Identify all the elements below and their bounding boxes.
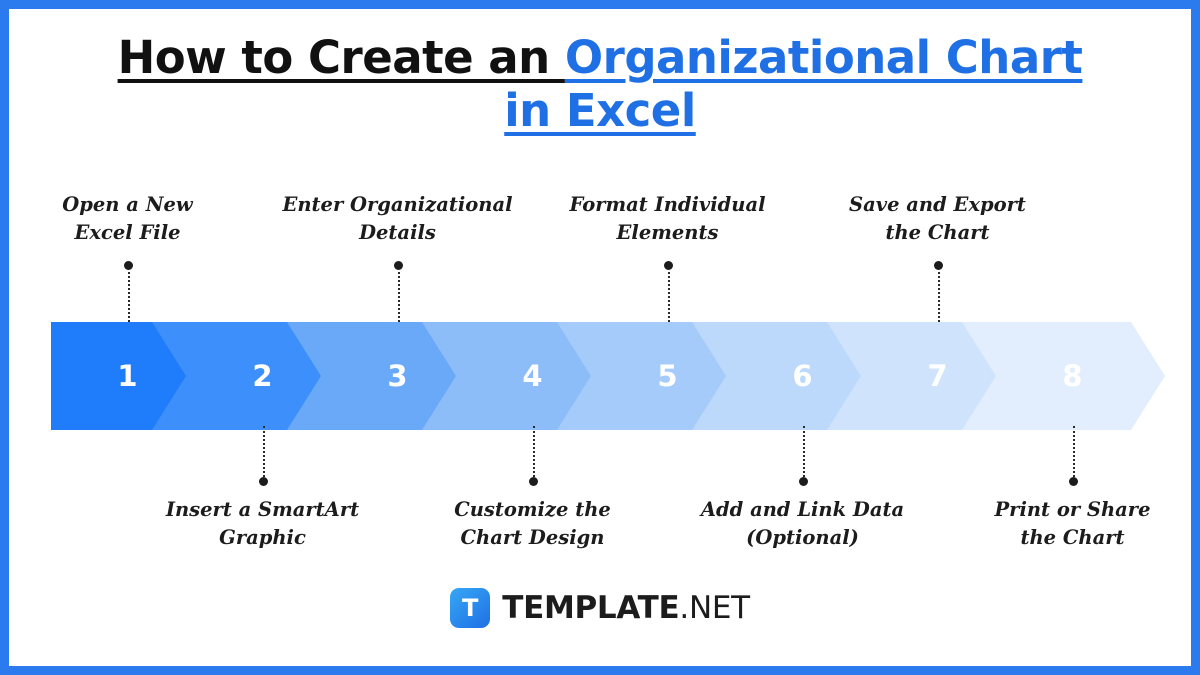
step-number-2: 2 — [252, 359, 272, 393]
connector-dot-7 — [934, 261, 943, 270]
connector-dot-8 — [1069, 477, 1078, 486]
connector-dot-3 — [394, 261, 403, 270]
connector-dot-1 — [124, 261, 133, 270]
connector-line-5 — [668, 267, 670, 322]
step-number-5: 5 — [657, 359, 677, 393]
step-number-3: 3 — [387, 359, 407, 393]
brand-name-bold: TEMPLATE — [502, 590, 679, 626]
brand-name-light: .NET — [679, 590, 749, 626]
logo-letter: T — [462, 596, 478, 620]
step-label-3: Enter Organizational Details — [268, 191, 528, 247]
step-number-1: 1 — [117, 359, 137, 393]
connector-dot-2 — [259, 477, 268, 486]
connector-line-1 — [128, 267, 130, 322]
step-number-6: 6 — [792, 359, 812, 393]
title-segment-black: How to Create an — [118, 31, 565, 84]
brand-footer: T TEMPLATE.NET — [9, 588, 1191, 628]
title-segment-blue: Organizational Chart — [565, 31, 1083, 84]
step-label-8: Print or Share the Chart — [943, 496, 1200, 552]
title-line-1: How to Create an Organizational Chart — [49, 31, 1151, 84]
connector-line-4 — [533, 426, 535, 477]
connector-line-3 — [398, 267, 400, 322]
step-number-7: 7 — [927, 359, 947, 393]
connector-line-2 — [263, 426, 265, 477]
step-number-4: 4 — [522, 359, 542, 393]
chevron-number-cell-8: 8 — [996, 322, 1165, 430]
connector-line-8 — [1073, 426, 1075, 477]
step-label-6: Add and Link Data (Optional) — [673, 496, 933, 552]
template-net-logo-icon: T — [450, 588, 490, 628]
step-label-1: Open a New Excel File — [0, 191, 258, 247]
brand-name: TEMPLATE.NET — [502, 590, 750, 626]
step-label-7: Save and Export the Chart — [808, 191, 1068, 247]
connector-line-7 — [938, 267, 940, 322]
connector-dot-6 — [799, 477, 808, 486]
step-label-2: Insert a SmartArt Graphic — [133, 496, 393, 552]
step-number-8: 8 — [1062, 359, 1082, 393]
step-label-4: Customize the Chart Design — [403, 496, 663, 552]
step-label-5: Format Individual Elements — [538, 191, 798, 247]
connector-dot-5 — [664, 261, 673, 270]
process-chevron-band: 12345678 — [51, 322, 1165, 430]
infographic-page: How to Create an Organizational Chart in… — [0, 0, 1200, 675]
connector-dot-4 — [529, 477, 538, 486]
connector-line-6 — [803, 426, 805, 477]
title-line-2: in Excel — [49, 84, 1151, 137]
page-title: How to Create an Organizational Chart in… — [9, 31, 1191, 137]
title-segment-blue-2: in Excel — [504, 84, 696, 137]
